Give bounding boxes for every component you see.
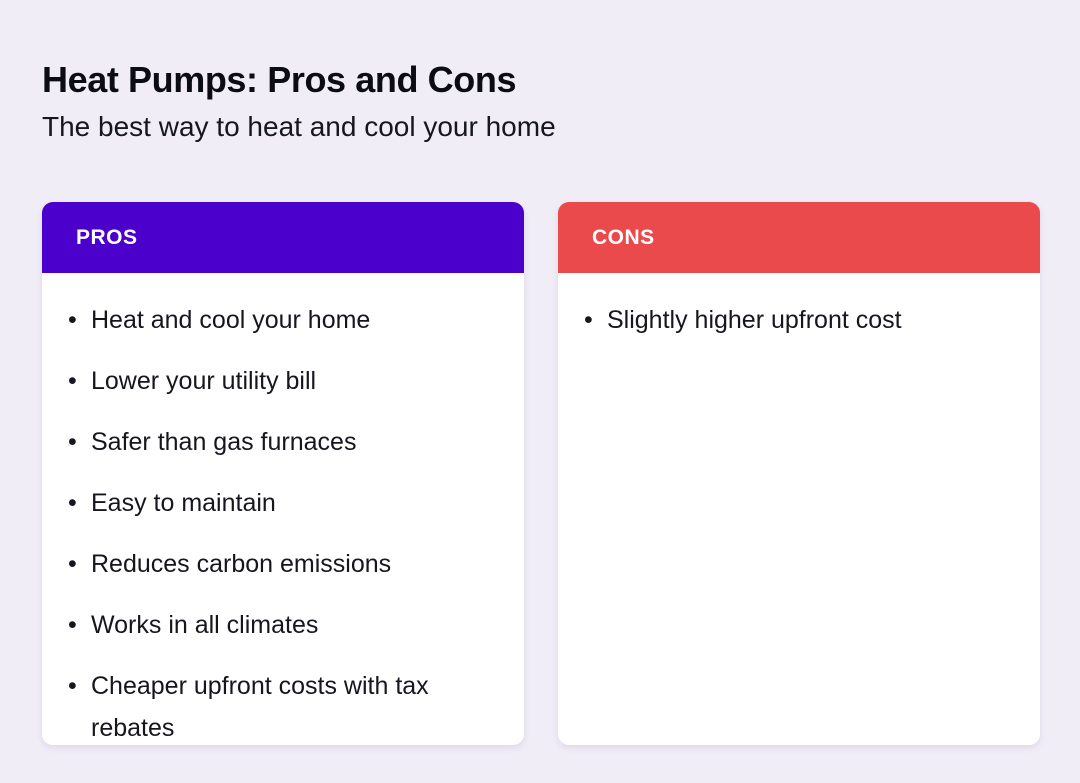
bullet-icon: • <box>68 360 91 402</box>
pros-list: • Heat and cool your home • Lower your u… <box>68 299 498 745</box>
bullet-icon: • <box>68 299 91 341</box>
cons-card-heading: CONS <box>592 226 655 250</box>
list-item: • Lower your utility bill <box>68 360 498 402</box>
list-item: • Reduces carbon emissions <box>68 543 498 585</box>
bullet-icon: • <box>68 421 91 463</box>
bullet-icon: • <box>584 299 607 341</box>
list-item: • Cheaper upfront costs with tax rebates <box>68 665 498 745</box>
pros-card-heading: PROS <box>76 226 138 250</box>
list-item-label: Safer than gas furnaces <box>91 421 498 463</box>
list-item: • Works in all climates <box>68 604 498 646</box>
pros-card-header: PROS <box>42 202 524 273</box>
header-block: Heat Pumps: Pros and Cons The best way t… <box>42 58 1002 146</box>
cards-row: PROS • Heat and cool your home • Lower y… <box>42 202 1040 745</box>
cons-card: CONS • Slightly higher upfront cost <box>558 202 1040 745</box>
cons-card-header: CONS <box>558 202 1040 273</box>
list-item: • Slightly higher upfront cost <box>584 299 1014 341</box>
list-item: • Heat and cool your home <box>68 299 498 341</box>
pros-card-body: • Heat and cool your home • Lower your u… <box>42 273 524 745</box>
list-item-label: Works in all climates <box>91 604 498 646</box>
bullet-icon: • <box>68 604 91 646</box>
list-item-label: Heat and cool your home <box>91 299 498 341</box>
list-item-label: Cheaper upfront costs with tax rebates <box>91 665 498 745</box>
bullet-icon: • <box>68 543 91 585</box>
bullet-icon: • <box>68 482 91 524</box>
list-item: • Safer than gas furnaces <box>68 421 498 463</box>
list-item-label: Lower your utility bill <box>91 360 498 402</box>
cons-card-body: • Slightly higher upfront cost <box>558 273 1040 745</box>
bullet-icon: • <box>68 665 91 707</box>
pros-card: PROS • Heat and cool your home • Lower y… <box>42 202 524 745</box>
list-item-label: Slightly higher upfront cost <box>607 299 1014 341</box>
list-item-label: Easy to maintain <box>91 482 498 524</box>
page-subtitle: The best way to heat and cool your home <box>42 108 1002 146</box>
page-title: Heat Pumps: Pros and Cons <box>42 58 1002 102</box>
list-item: • Easy to maintain <box>68 482 498 524</box>
list-item-label: Reduces carbon emissions <box>91 543 498 585</box>
infographic-page: Heat Pumps: Pros and Cons The best way t… <box>0 0 1080 783</box>
cons-list: • Slightly higher upfront cost <box>584 299 1014 341</box>
